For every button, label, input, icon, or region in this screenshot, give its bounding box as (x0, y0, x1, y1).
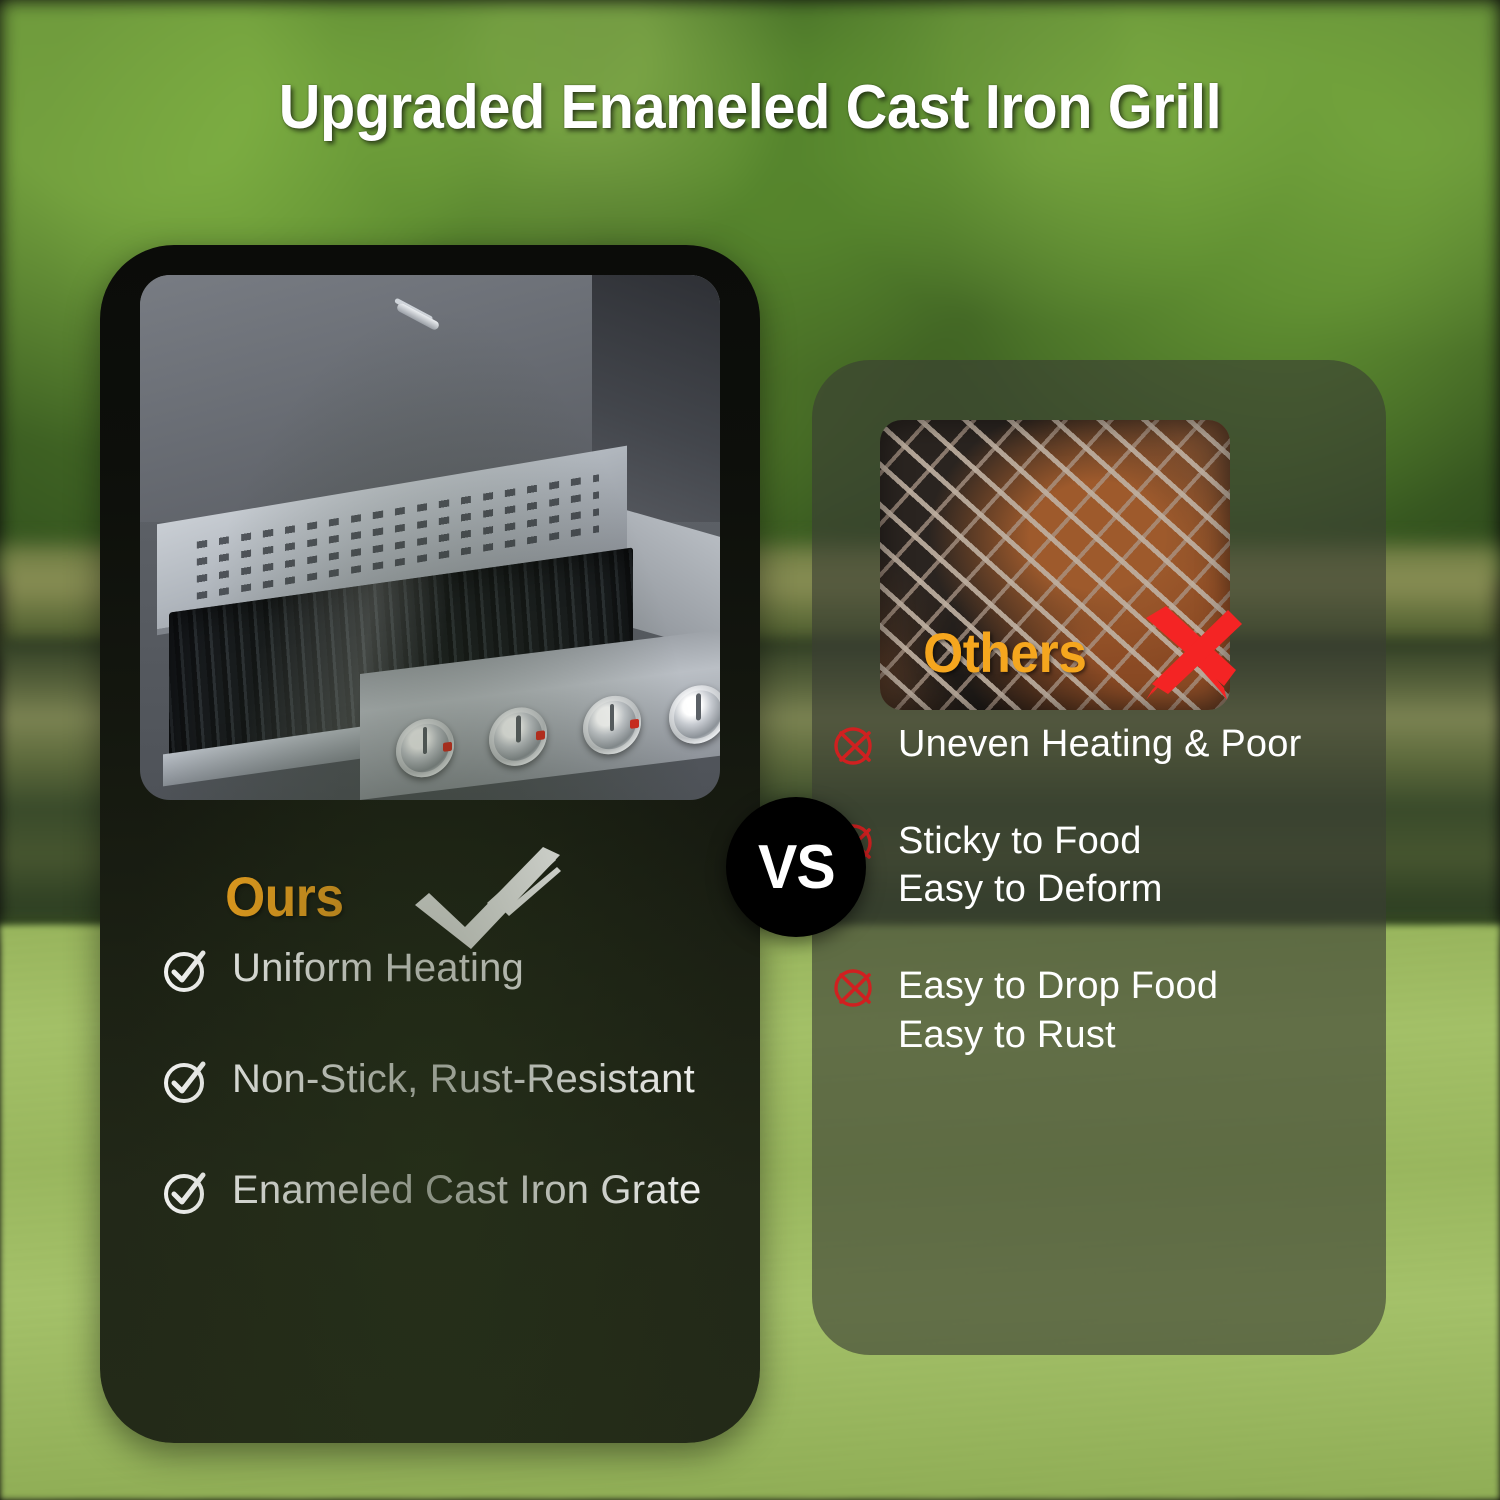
list-item-line-1: Sticky to Food (898, 817, 1163, 866)
list-item-label: Easy to Drop Food Easy to Rust (898, 962, 1218, 1059)
ours-heading-row: Ours (100, 841, 760, 951)
list-item: Uniform Heating (162, 945, 730, 994)
list-item: Uneven Heating & Poor (832, 720, 1368, 769)
list-item-label: Enameled Cast Iron Grate (232, 1167, 701, 1214)
vs-badge-label: VS (758, 832, 835, 903)
circle-x-icon (832, 723, 876, 767)
list-item-label: Uneven Heating & Poor (898, 720, 1301, 769)
list-item: Enameled Cast Iron Grate (162, 1167, 730, 1216)
list-item-line-2: Easy to Rust (898, 1011, 1218, 1060)
others-heading-row: Others (916, 596, 1252, 708)
list-item-line-1: Uneven Heating & Poor (898, 720, 1301, 769)
circle-check-icon (162, 1059, 208, 1105)
circle-check-icon (162, 948, 208, 994)
list-item-label: Uniform Heating (232, 945, 524, 992)
infographic-canvas: Upgraded Enameled Cast Iron Grill Ours (0, 0, 1500, 1500)
others-panel: Others Uneven Heating & Poor (812, 360, 1386, 1355)
list-item: Non-Stick, Rust-Resistant (162, 1056, 730, 1105)
ours-label: Ours (225, 864, 343, 929)
ours-product-photo (140, 275, 720, 800)
page-title: Upgraded Enameled Cast Iron Grill (53, 72, 1448, 143)
list-item-label: Sticky to Food Easy to Deform (898, 817, 1163, 914)
list-item: Easy to Drop Food Easy to Rust (832, 962, 1368, 1059)
circle-x-icon (832, 965, 876, 1009)
control-knob-indicator (630, 719, 639, 729)
control-knob (670, 682, 720, 747)
ours-panel: Ours Uniform Heating (100, 245, 760, 1443)
x-brush-icon (1132, 596, 1252, 708)
others-label: Others (923, 620, 1086, 685)
control-knob-indicator (443, 742, 452, 752)
list-item-line-1: Easy to Drop Food (898, 962, 1218, 1011)
ours-feature-list: Uniform Heating Non-Stick, Rust-Resistan… (162, 945, 730, 1278)
others-feature-list: Uneven Heating & Poor Sticky to Food Eas… (832, 720, 1368, 1107)
circle-check-icon (162, 1170, 208, 1216)
list-item-label: Non-Stick, Rust-Resistant (232, 1056, 695, 1103)
check-brush-icon (409, 841, 574, 951)
vs-badge: VS (726, 797, 866, 937)
list-item-line-2: Easy to Deform (898, 865, 1163, 914)
list-item: Sticky to Food Easy to Deform (832, 817, 1368, 914)
